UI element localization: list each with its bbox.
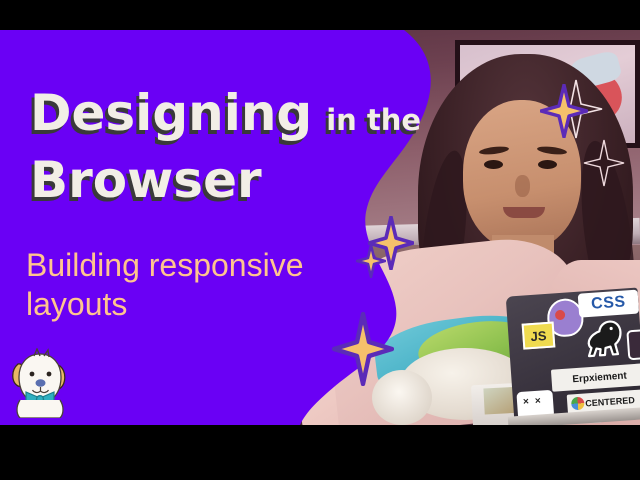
dog-nose-icon	[36, 379, 46, 387]
dog-eye-left-icon	[30, 372, 35, 377]
letterbox-bottom	[0, 425, 640, 480]
title-small-text: in the	[326, 103, 421, 137]
dog-mascot-logo	[4, 348, 76, 418]
dog-body-icon	[17, 400, 63, 418]
video-frame: JS CSS Erpxiement CENTERED	[0, 0, 640, 480]
sparkle-upper-right-icon	[582, 138, 626, 188]
title-main-text: Designing	[30, 84, 312, 142]
sparkle-small-icon	[356, 244, 386, 278]
letterbox-top	[0, 0, 640, 30]
video-content: JS CSS Erpxiement CENTERED	[0, 30, 640, 425]
page-title-line2: Browser	[30, 155, 262, 205]
page-title-line1: Designingin the	[30, 88, 421, 138]
dog-eye-right-icon	[47, 372, 52, 377]
page-subtitle: Building responsive layouts	[26, 246, 356, 324]
sparkle-wall-icon	[540, 84, 588, 138]
